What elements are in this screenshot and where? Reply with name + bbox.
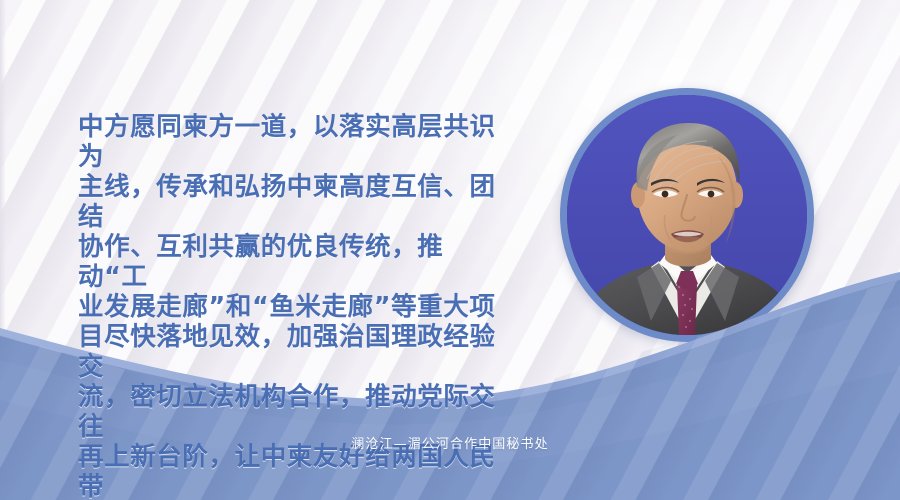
poster-canvas: 中方愿同柬方一道，以落实高层共识为 主线，传承和弘扬中柬高度互信、团结 协作、互… xyxy=(0,0,900,500)
footer-caption: 澜沧江—湄公河合作中国秘书处 xyxy=(0,433,900,452)
